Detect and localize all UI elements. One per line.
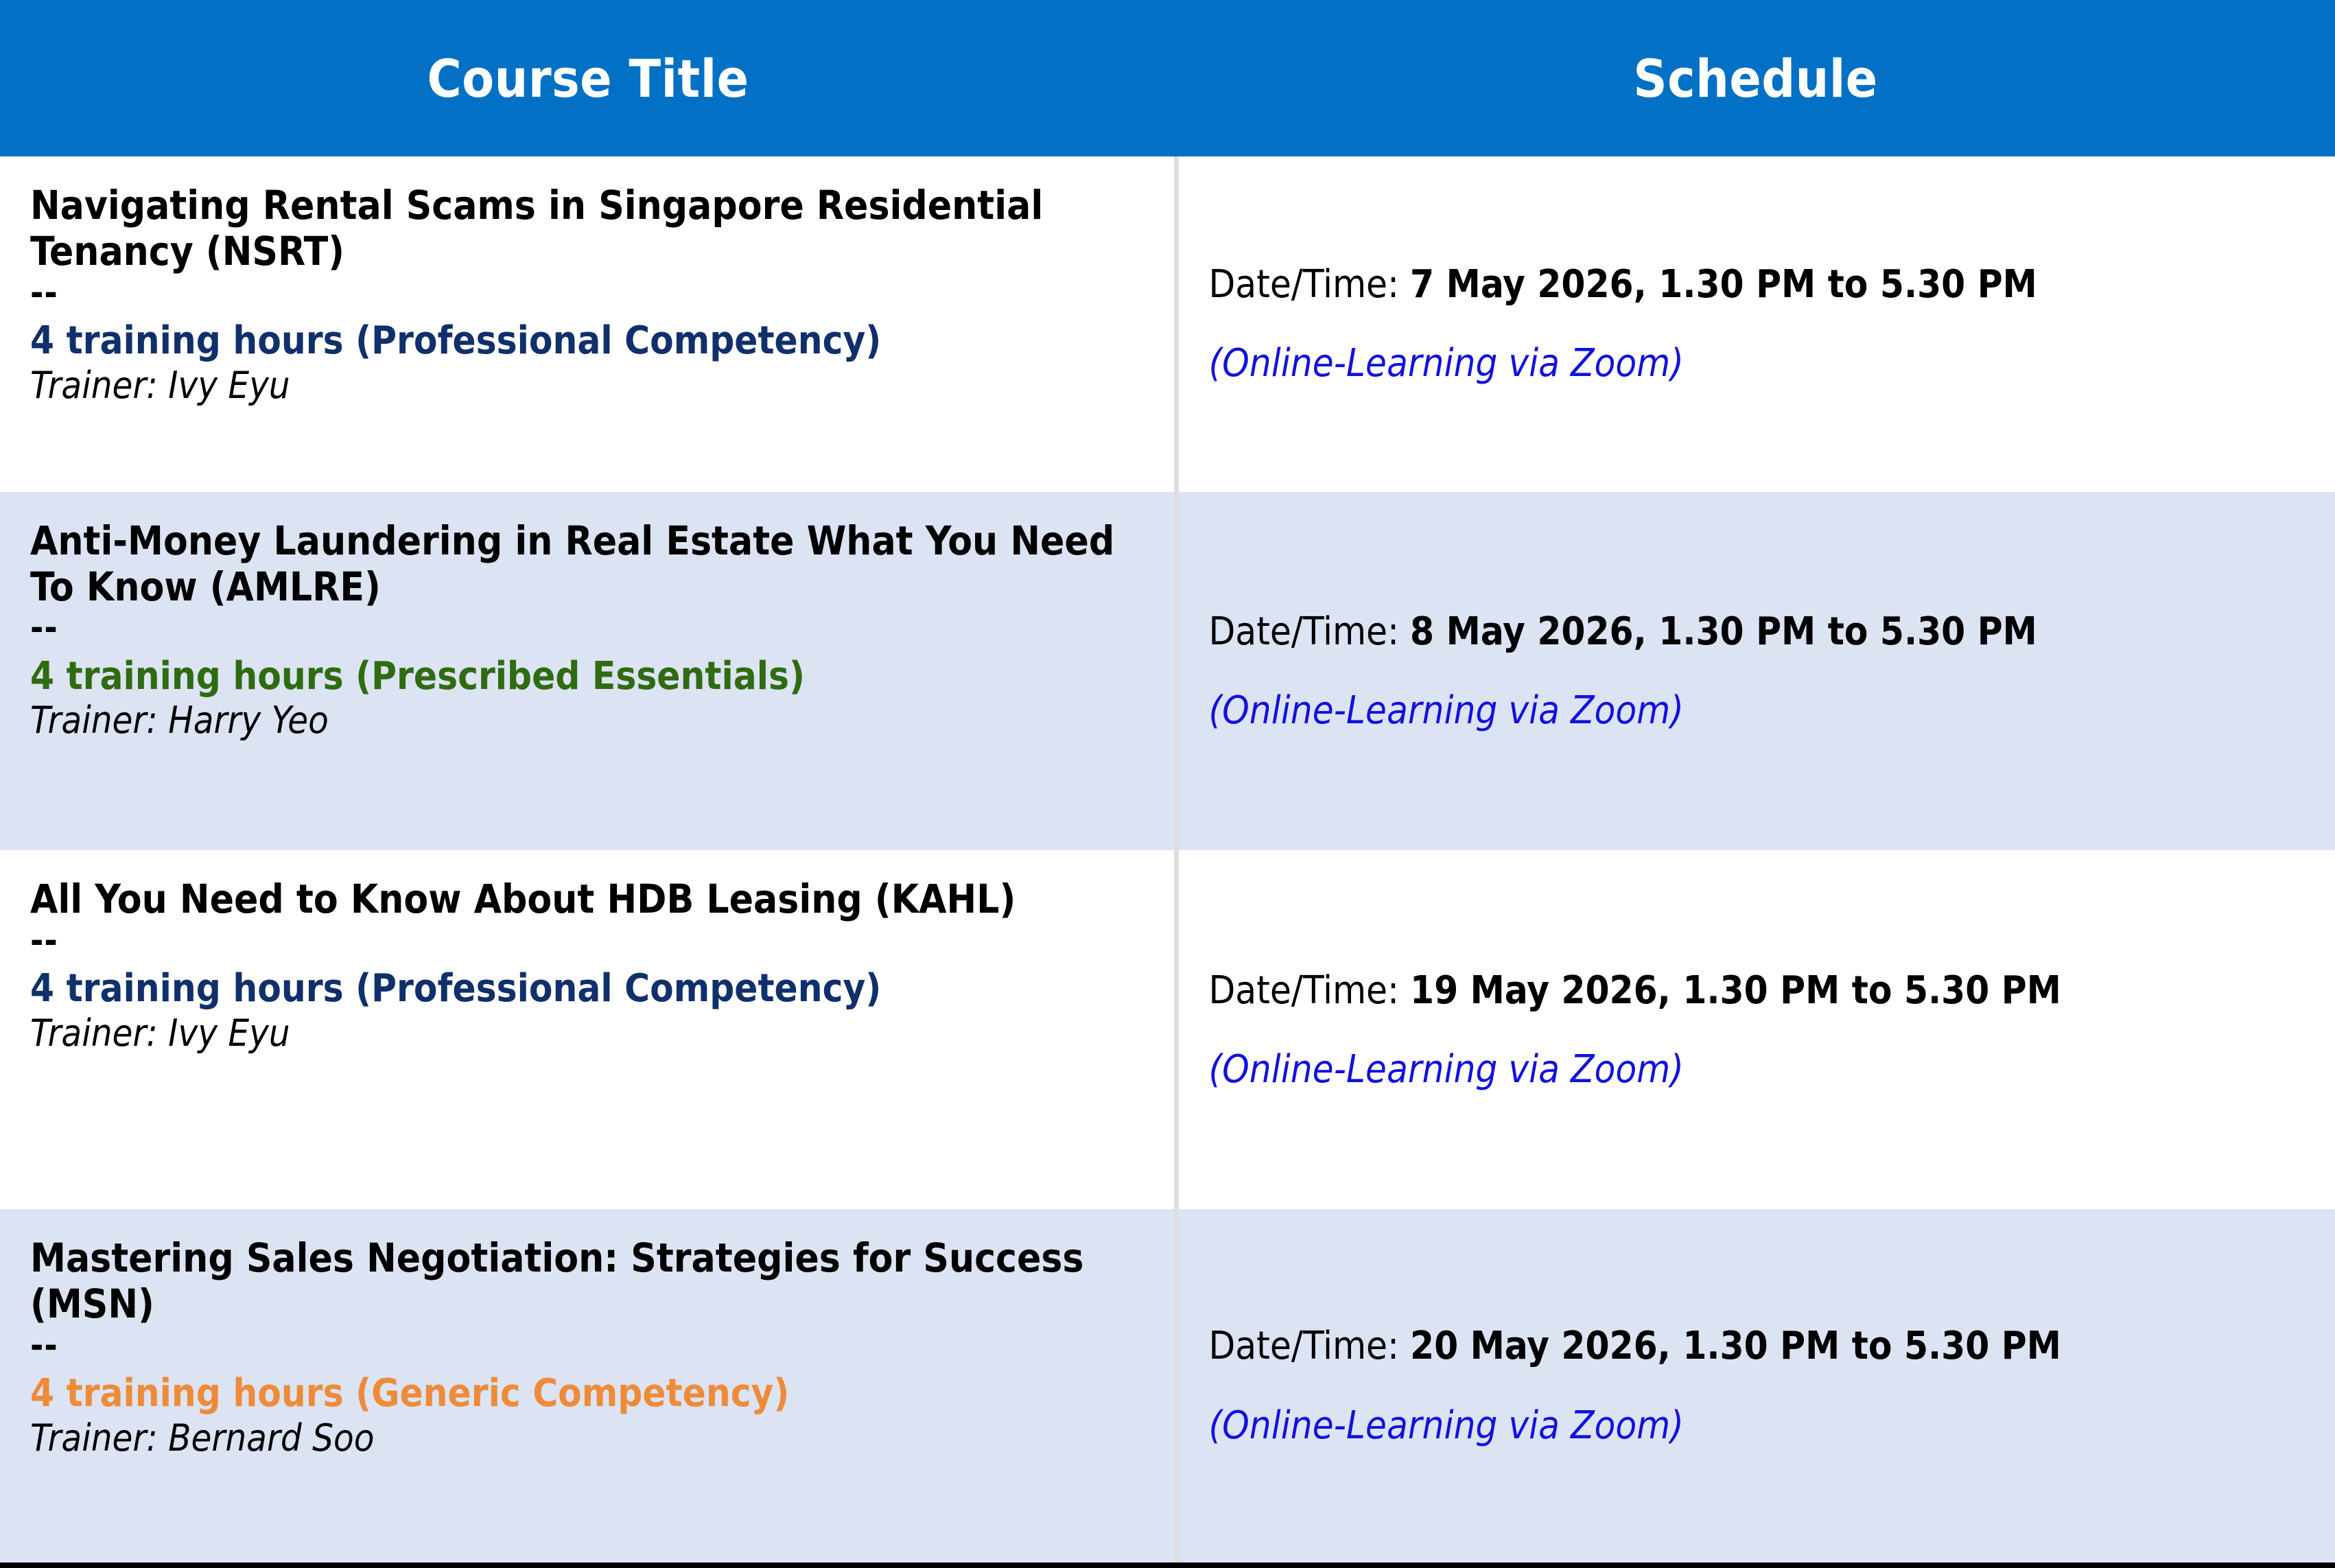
table-row: All You Need to Know About HDB Leasing (… (0, 850, 2335, 1209)
schedule-datetime: Date/Time: 7 May 2026, 1.30 PM to 5.30 P… (1209, 261, 2308, 307)
schedule-datetime-label: Date/Time: (1209, 1324, 1411, 1368)
column-header-schedule: Schedule (1176, 0, 2335, 156)
schedule-datetime: Date/Time: 20 May 2026, 1.30 PM to 5.30 … (1209, 1323, 2308, 1369)
course-name: All You Need to Know About HDB Leasing (… (30, 876, 1147, 922)
training-hours-competency: 4 training hours (Generic Competency) (30, 1372, 1147, 1415)
delivery-mode: (Online-Learning via Zoom) (1209, 340, 2308, 386)
schedule-datetime: Date/Time: 19 May 2026, 1.30 PM to 5.30 … (1209, 968, 2308, 1014)
course-name: Mastering Sales Negotiation: Strategies … (30, 1235, 1147, 1328)
schedule-datetime-value: 19 May 2026, 1.30 PM to 5.30 PM (1410, 968, 2061, 1013)
schedule-datetime-value: 8 May 2026, 1.30 PM to 5.30 PM (1410, 609, 2037, 654)
course-name: Anti-Money Laundering in Real Estate Wha… (30, 518, 1147, 611)
table-header: Course Title Schedule (0, 0, 2335, 156)
table-row: Navigating Rental Scams in Singapore Res… (0, 156, 2335, 492)
table-header-row: Course Title Schedule (0, 0, 2335, 156)
course-schedule-table: Course Title Schedule Navigating Rental … (0, 0, 2335, 1568)
schedule-datetime-label: Date/Time: (1209, 262, 1411, 307)
trainer-name: Trainer: Ivy Eyu (30, 364, 1147, 408)
course-separator: -- (30, 279, 1147, 308)
table-row: Mastering Sales Negotiation: Strategies … (0, 1209, 2335, 1565)
schedule-datetime-value: 7 May 2026, 1.30 PM to 5.30 PM (1410, 262, 2037, 307)
schedule-datetime: Date/Time: 8 May 2026, 1.30 PM to 5.30 P… (1209, 609, 2308, 655)
delivery-mode: (Online-Learning via Zoom) (1209, 1403, 2308, 1449)
course-title-cell: Anti-Money Laundering in Real Estate Wha… (0, 492, 1176, 851)
training-hours-competency: 4 training hours (Professional Competenc… (30, 968, 1147, 1010)
trainer-name: Trainer: Ivy Eyu (30, 1011, 1147, 1055)
delivery-mode: (Online-Learning via Zoom) (1209, 688, 2308, 734)
trainer-name: Trainer: Bernard Soo (30, 1416, 1147, 1460)
table-row: Anti-Money Laundering in Real Estate Wha… (0, 492, 2335, 851)
schedule-cell: Date/Time: 7 May 2026, 1.30 PM to 5.30 P… (1176, 156, 2335, 492)
course-separator: -- (30, 614, 1147, 643)
training-hours-competency: 4 training hours (Prescribed Essentials) (30, 655, 1147, 698)
delivery-mode: (Online-Learning via Zoom) (1209, 1046, 2308, 1092)
schedule-datetime-label: Date/Time: (1209, 968, 1411, 1013)
table-body: Navigating Rental Scams in Singapore Res… (0, 156, 2335, 1565)
course-separator: -- (30, 1332, 1147, 1361)
schedule-cell: Date/Time: 20 May 2026, 1.30 PM to 5.30 … (1176, 1209, 2335, 1565)
schedule-cell: Date/Time: 8 May 2026, 1.30 PM to 5.30 P… (1176, 492, 2335, 851)
course-title-cell: Navigating Rental Scams in Singapore Res… (0, 156, 1176, 492)
course-title-cell: Mastering Sales Negotiation: Strategies … (0, 1209, 1176, 1565)
course-name: Navigating Rental Scams in Singapore Res… (30, 183, 1147, 275)
course-title-cell: All You Need to Know About HDB Leasing (… (0, 850, 1176, 1209)
column-header-course-title: Course Title (0, 0, 1176, 156)
schedule-datetime-label: Date/Time: (1209, 609, 1411, 654)
schedule-datetime-value: 20 May 2026, 1.30 PM to 5.30 PM (1410, 1324, 2061, 1368)
training-hours-competency: 4 training hours (Professional Competenc… (30, 320, 1147, 362)
course-separator: -- (30, 927, 1147, 956)
trainer-name: Trainer: Harry Yeo (30, 699, 1147, 742)
schedule-cell: Date/Time: 19 May 2026, 1.30 PM to 5.30 … (1176, 850, 2335, 1209)
